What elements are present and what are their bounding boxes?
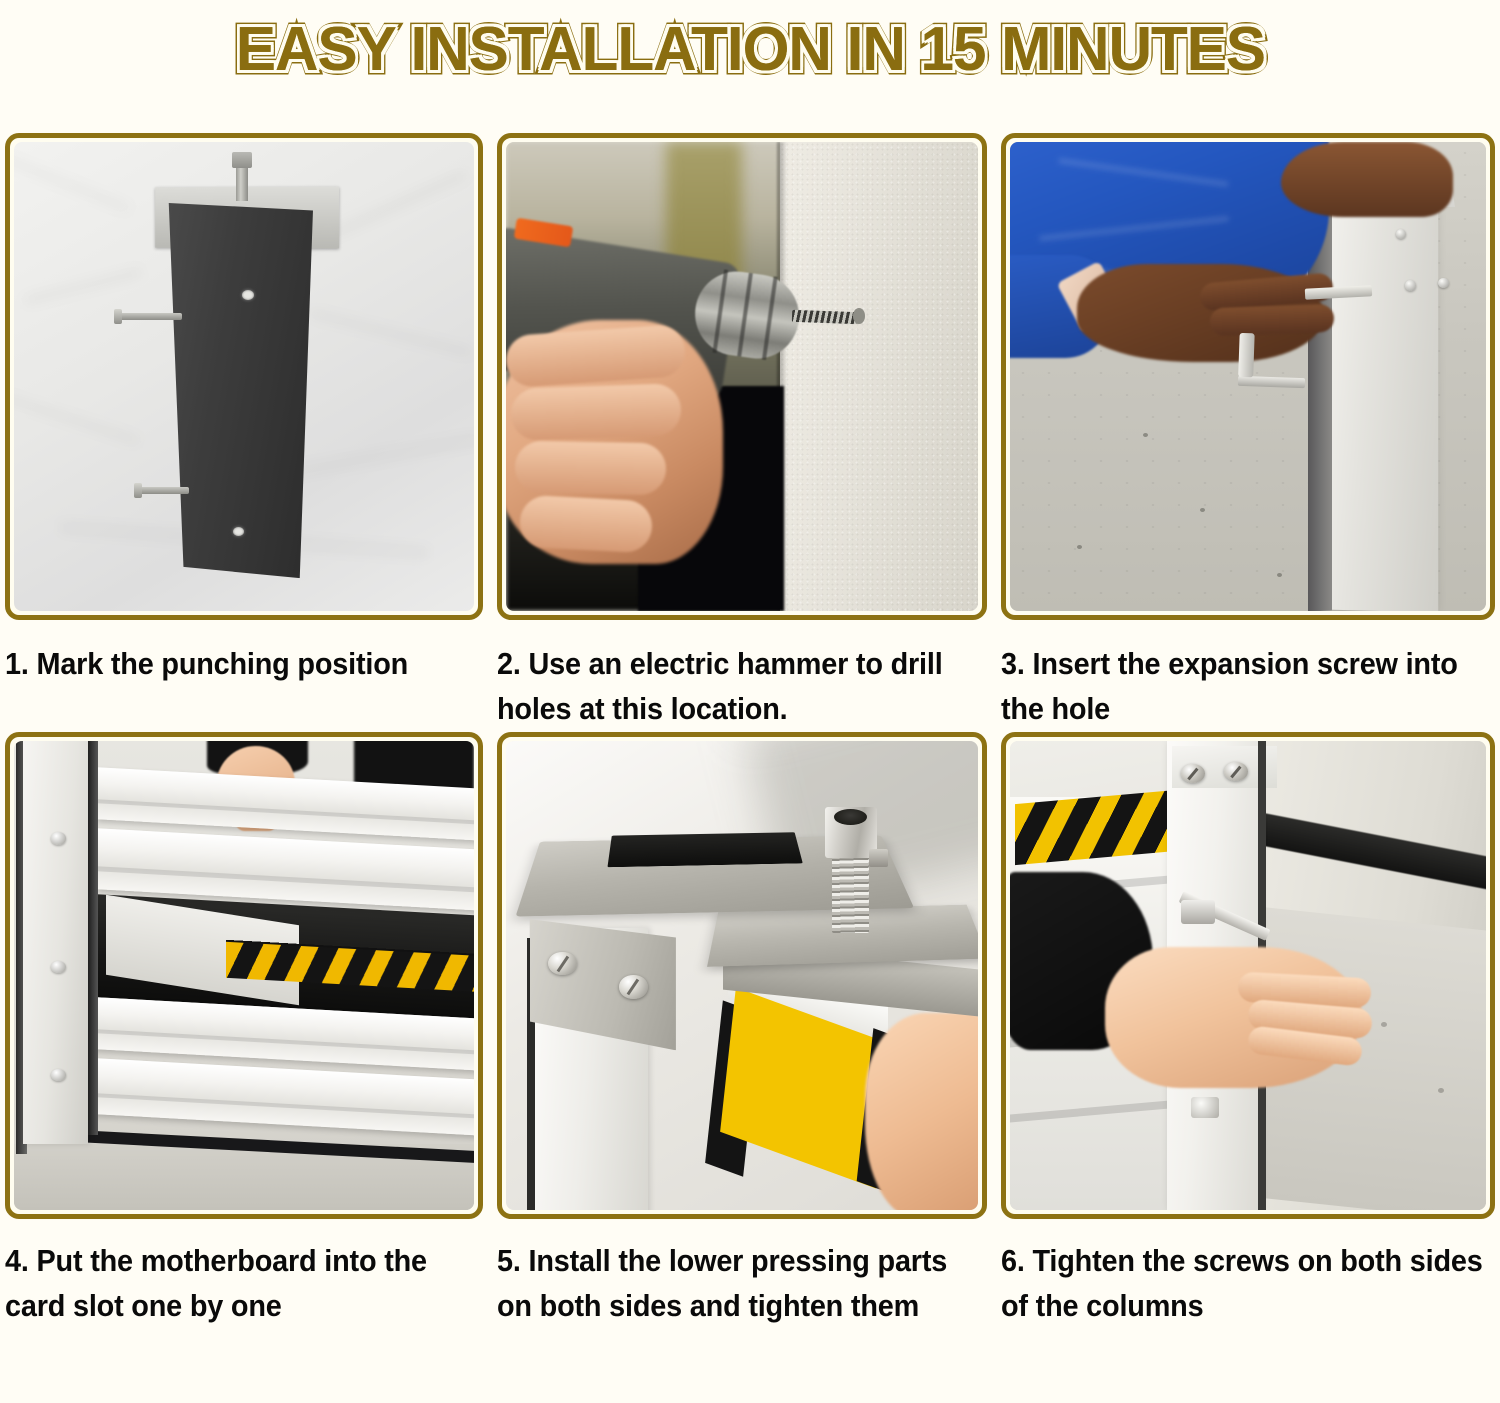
- step-photo-4: [14, 741, 474, 1210]
- punch-hole-lower: [233, 527, 244, 536]
- step-card-2: 2. Use an electric hammer to drill holes…: [497, 133, 1001, 732]
- slot-screw-2: [51, 961, 66, 973]
- punch-hole-upper: [242, 290, 254, 300]
- hex-key-icon: [1238, 375, 1305, 388]
- step-photo-frame-1: [5, 133, 483, 620]
- step-photo-frame-5: [497, 732, 987, 1219]
- top-bolt-head: [232, 152, 252, 168]
- wall-surface: [780, 142, 978, 611]
- step-caption-2: 2. Use an electric hammer to drill holes…: [497, 642, 985, 732]
- drill-bit: [791, 310, 857, 324]
- step-photo-6: [1010, 741, 1486, 1210]
- step-caption-3: 3. Insert the expansion screw into the h…: [1001, 642, 1493, 732]
- top-screw-2: [1224, 762, 1248, 781]
- screwdriver-head: [1181, 900, 1214, 923]
- slot-screw-3: [51, 1069, 66, 1081]
- bracket-screw-2: [619, 975, 647, 998]
- lower-screw: [1191, 1097, 1220, 1118]
- left-column-slot: [23, 741, 87, 1144]
- step-photo-1: [14, 142, 474, 611]
- white-column: [1325, 159, 1439, 611]
- step-card-6: 6. Tighten the screws on both sides of t…: [1001, 732, 1495, 1329]
- step-card-1: 1. Mark the punching position: [5, 133, 497, 732]
- step-card-3: 3. Insert the expansion screw into the h…: [1001, 133, 1495, 732]
- step-photo-5: [506, 741, 978, 1210]
- hex-bolt-thread: [832, 853, 870, 933]
- column-screw-3: [1405, 280, 1415, 290]
- column-post: [166, 203, 313, 578]
- page-title-bar: EASY INSTALLATION IN 15 MINUTES: [0, 0, 1500, 100]
- expansion-screw-upper: [118, 313, 182, 320]
- step-photo-frame-2: [497, 133, 987, 620]
- step-caption-6: 6. Tighten the screws on both sides of t…: [1001, 1239, 1493, 1329]
- step-caption-4: 4. Put the motherboard into the card slo…: [5, 1239, 481, 1329]
- step-card-5: 5. Install the lower pressing parts on b…: [497, 732, 1001, 1329]
- expansion-screw-lower: [138, 487, 189, 494]
- step-caption-1: 1. Mark the punching position: [5, 642, 481, 687]
- step-card-4: 4. Put the motherboard into the card slo…: [5, 732, 497, 1329]
- page-title: EASY INSTALLATION IN 15 MINUTES: [235, 19, 1264, 81]
- step-photo-frame-4: [5, 732, 483, 1219]
- bracket-screw-1: [548, 952, 576, 975]
- step-photo-3: [1010, 142, 1486, 611]
- installation-guide-page: EASY INSTALLATION IN 15 MINUTES: [0, 0, 1500, 1403]
- hand-supporting-bracket: [865, 1013, 978, 1210]
- step-photo-frame-3: [1001, 133, 1495, 620]
- step-photo-frame-6: [1001, 732, 1495, 1219]
- step-photo-2: [506, 142, 978, 611]
- step-caption-5: 5. Install the lower pressing parts on b…: [497, 1239, 985, 1329]
- slot-screw-1: [51, 832, 66, 844]
- steps-grid: 1. Mark the punching position: [5, 133, 1495, 1329]
- column-screw-1: [1396, 229, 1406, 239]
